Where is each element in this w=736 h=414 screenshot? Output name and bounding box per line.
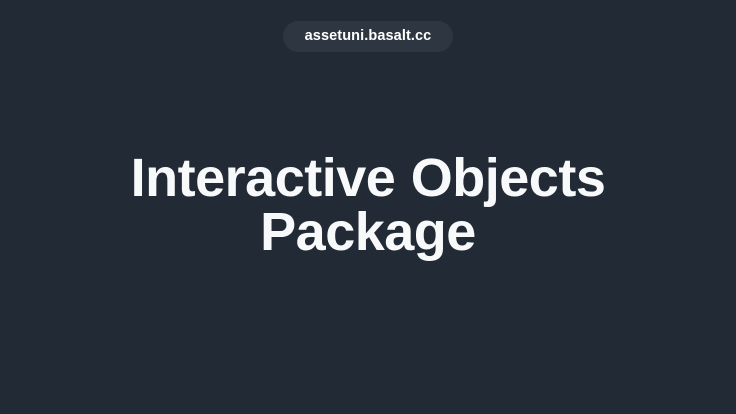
- page-title-line-2: Package: [88, 205, 648, 259]
- hero-section: Interactive Objects Package: [0, 0, 736, 414]
- page-title: Interactive Objects Package: [88, 151, 648, 259]
- landing-page: assetuni.basalt.cc Interactive Objects P…: [0, 0, 736, 414]
- hero-content: Interactive Objects Package: [88, 151, 648, 259]
- page-title-line-1: Interactive Objects: [88, 151, 648, 205]
